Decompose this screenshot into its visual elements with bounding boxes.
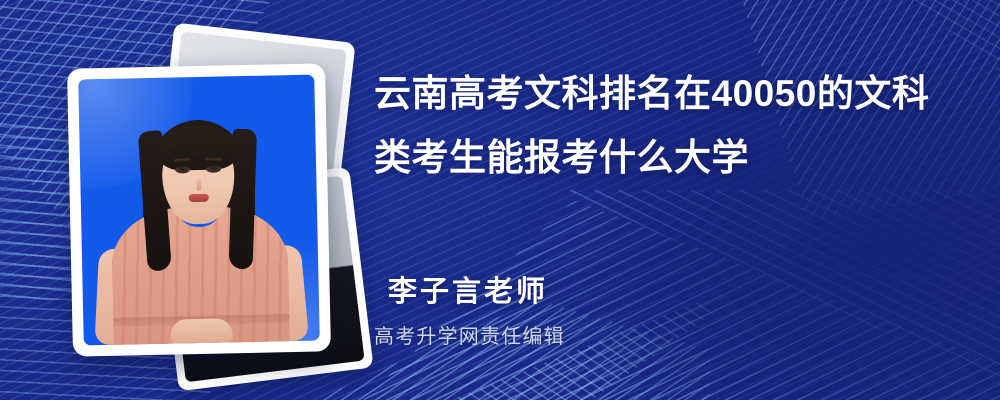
article-cover-banner: 云南高考文科排名在40050的文科类考生能报考什么大学 李子言老师 高考升学网责… xyxy=(0,0,1000,400)
text-column: 云南高考文科排名在40050的文科类考生能报考什么大学 李子言老师 高考升学网责… xyxy=(374,0,974,400)
hands xyxy=(170,318,233,345)
photo-stack xyxy=(48,28,358,372)
mouth xyxy=(189,194,209,202)
portrait-photo-frame xyxy=(67,63,331,356)
author-name: 李子言老师 xyxy=(388,268,548,310)
portrait-subject xyxy=(78,75,320,346)
author-role: 高考升学网责任编辑 xyxy=(374,320,565,349)
banner-title: 云南高考文科排名在40050的文科类考生能报考什么大学 xyxy=(374,62,954,190)
portrait-photo xyxy=(78,75,320,346)
nose xyxy=(196,179,201,191)
hair-fringe xyxy=(156,125,239,171)
